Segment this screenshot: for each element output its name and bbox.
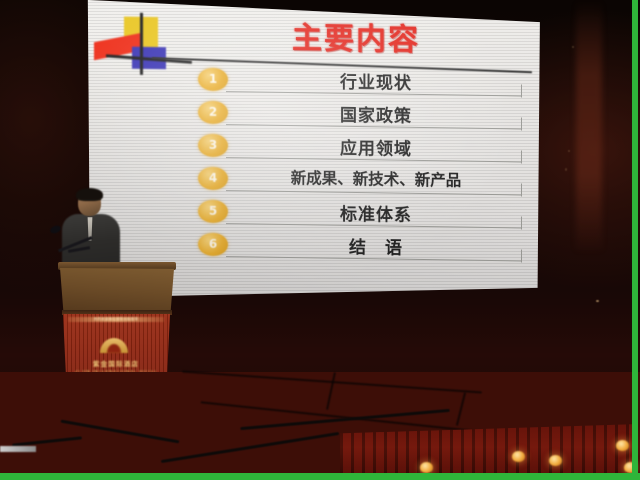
backdrop-highlight (565, 168, 567, 171)
frame-edge-bottom (0, 473, 640, 480)
list-item: 6 结 语 (86, 227, 544, 267)
list-item-tick (521, 117, 522, 130)
list-item-tick (521, 150, 522, 163)
lectern-banner: 热烈欢迎各位领导光临指导 (68, 317, 164, 322)
list-item-tick (521, 216, 522, 229)
floor-light-strip (0, 446, 36, 452)
bullet-number: 6 (198, 233, 228, 256)
slide-agenda-list: 1 行业现状 2 国家政策 3 应用领域 (86, 62, 544, 267)
presentation-photo: 主要内容 1 行业现状 2 国家政策 3 应用领域 (0, 0, 640, 480)
frame-edge-right (632, 0, 638, 480)
bullet-number: 2 (198, 101, 228, 124)
backdrop-highlight (572, 46, 574, 48)
list-item-rule (226, 190, 522, 195)
list-item-label: 新成果、新技术、新产品 (228, 165, 524, 191)
footlight (512, 451, 525, 462)
projection-screen: 主要内容 1 行业现状 2 国家政策 3 应用领域 (86, 0, 544, 300)
footlight (549, 455, 562, 466)
footlight (616, 440, 629, 451)
slide-content: 主要内容 1 行业现状 2 国家政策 3 应用领域 (86, 0, 544, 307)
list-item-tick (521, 183, 522, 196)
slide-title: 主要内容 (206, 12, 506, 60)
list-item-tick (521, 84, 522, 97)
list-item-tick (521, 249, 522, 262)
backdrop-highlight (568, 150, 570, 152)
lectern-desk (60, 268, 174, 312)
bullet-number: 4 (198, 167, 228, 190)
footlight (420, 462, 433, 473)
bullet-number: 5 (198, 200, 228, 223)
bullet-number: 1 (198, 68, 228, 91)
backdrop-column (576, 0, 602, 250)
hotel-name: 紫金国际酒店 (70, 358, 162, 368)
backdrop-highlight (596, 300, 599, 302)
eyeglasses-icon (78, 199, 101, 204)
bullet-number: 3 (198, 134, 228, 157)
